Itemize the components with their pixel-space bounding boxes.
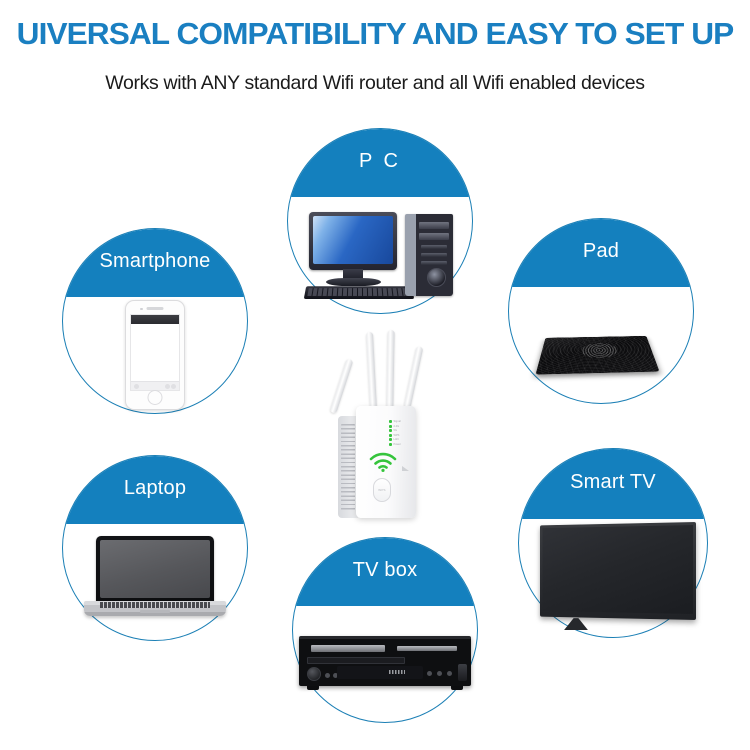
led-row: WPS: [389, 434, 415, 437]
smartphone-icon: [62, 297, 248, 414]
set-top-box-icon: [292, 606, 478, 723]
antenna-3: [386, 330, 394, 410]
led-row: 5G: [389, 429, 415, 432]
antenna-1: [330, 358, 354, 413]
circle-cap-laptop: [63, 456, 247, 524]
device-node-smartphone: Smartphone: [62, 228, 248, 414]
direction-arrow-icon: [402, 466, 409, 471]
circle-cap-smartphone: [63, 229, 247, 297]
wps-button-label: WPS: [378, 488, 385, 492]
led-label: WPS: [394, 434, 400, 437]
led-row: Power: [389, 443, 415, 446]
led-dot: [389, 443, 392, 446]
extender-side-vents: [338, 416, 358, 518]
device-node-pc: P C: [287, 128, 473, 314]
infographic-canvas: UIVERSAL COMPATIBILITY AND EASY TO SET U…: [0, 0, 750, 750]
led-row: Signal: [389, 420, 415, 423]
circle-cap-pad: [509, 219, 693, 287]
circle-cap-tvbox: [293, 538, 477, 606]
laptop-icon: [62, 524, 248, 641]
led-dot: [389, 429, 392, 432]
led-indicator-stack: Signal 2.4G 5G WPS LAN: [389, 420, 415, 448]
wps-button[interactable]: WPS: [373, 478, 391, 502]
page-title: UIVERSAL COMPATIBILITY AND EASY TO SET U…: [0, 16, 750, 52]
device-node-tvbox: TV box: [292, 537, 478, 723]
led-row: LAN: [389, 438, 415, 441]
extender-body: Signal 2.4G 5G WPS LAN: [356, 406, 416, 518]
led-dot: [389, 438, 392, 441]
antenna-2: [366, 332, 377, 410]
television-icon: [518, 518, 708, 638]
desktop-computer-icon: [287, 197, 473, 314]
led-dot: [389, 420, 392, 423]
antenna-4: [404, 346, 424, 408]
led-label: Signal: [394, 420, 401, 423]
led-row: 2.4G: [389, 425, 415, 428]
page-subtitle: Works with ANY standard Wifi router and …: [0, 72, 750, 95]
led-label: 5G: [394, 429, 397, 432]
led-label: LAN: [394, 438, 399, 441]
led-label: Power: [394, 443, 401, 446]
led-dot: [389, 425, 392, 428]
tablet-pad-icon: [508, 287, 694, 404]
circle-cap-pc: [288, 129, 472, 197]
led-label: 2.4G: [394, 425, 400, 428]
device-node-laptop: Laptop: [62, 455, 248, 641]
wifi-range-extender-icon: Signal 2.4G 5G WPS LAN: [330, 330, 442, 520]
circle-cap-smarttv: [519, 449, 707, 519]
led-dot: [389, 434, 392, 437]
device-node-smarttv: Smart TV: [518, 448, 708, 638]
wifi-signal-icon: [368, 452, 398, 472]
device-node-pad: Pad: [508, 218, 694, 404]
